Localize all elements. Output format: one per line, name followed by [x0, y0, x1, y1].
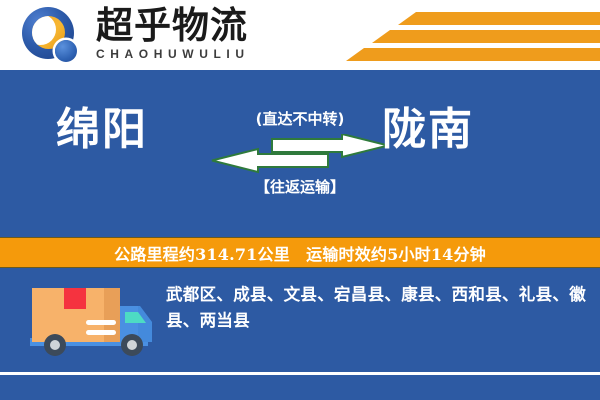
delivery-truck-icon	[28, 280, 156, 360]
orange-stripe-3-icon	[346, 48, 600, 61]
origin-city-label: 绵阳	[56, 104, 148, 156]
brand-name-cn: 超乎物流	[96, 6, 336, 46]
brand-wordmark: 超乎物流 CHAOHUWULIU	[96, 6, 336, 61]
logo-small-circle	[55, 40, 77, 62]
brand-name-pinyin: CHAOHUWULIU	[96, 47, 336, 61]
coverage-areas-text: 武都区、成县、文县、宕昌县、康县、西和县、礼县、徽县、两当县	[166, 282, 586, 334]
logistics-route-banner: 超乎物流 CHAOHUWULIU 绵阳 (直达不中转)	[0, 0, 600, 400]
coverage-panel: 武都区、成县、文县、宕昌县、康县、西和县、礼县、徽县、两当县	[0, 268, 600, 372]
circle-crescent-logo-icon	[22, 7, 84, 65]
distance-duration-text: 公路里程约314.71公里 运输时效约5小时14分钟	[114, 241, 486, 265]
route-middle-group: (直达不中转) 【往返运输】	[200, 110, 400, 196]
logo-crescent-cutout	[32, 16, 56, 45]
direct-shipping-note: (直达不中转)	[200, 110, 400, 128]
distance-duration-band: 公路里程约314.71公里 运输时效约5小时14分钟	[0, 237, 600, 268]
round-trip-note: 【往返运输】	[200, 178, 400, 196]
destination-city-label: 陇南	[382, 104, 474, 156]
double-headed-arrow-icon	[210, 134, 390, 174]
orange-stripe-2-icon	[372, 30, 600, 43]
footer-band	[0, 375, 600, 400]
banner-header: 超乎物流 CHAOHUWULIU	[0, 0, 600, 70]
orange-stripe-1-icon	[398, 12, 600, 25]
route-panel: 绵阳 (直达不中转) 【往返运输】 陇南	[0, 70, 600, 237]
